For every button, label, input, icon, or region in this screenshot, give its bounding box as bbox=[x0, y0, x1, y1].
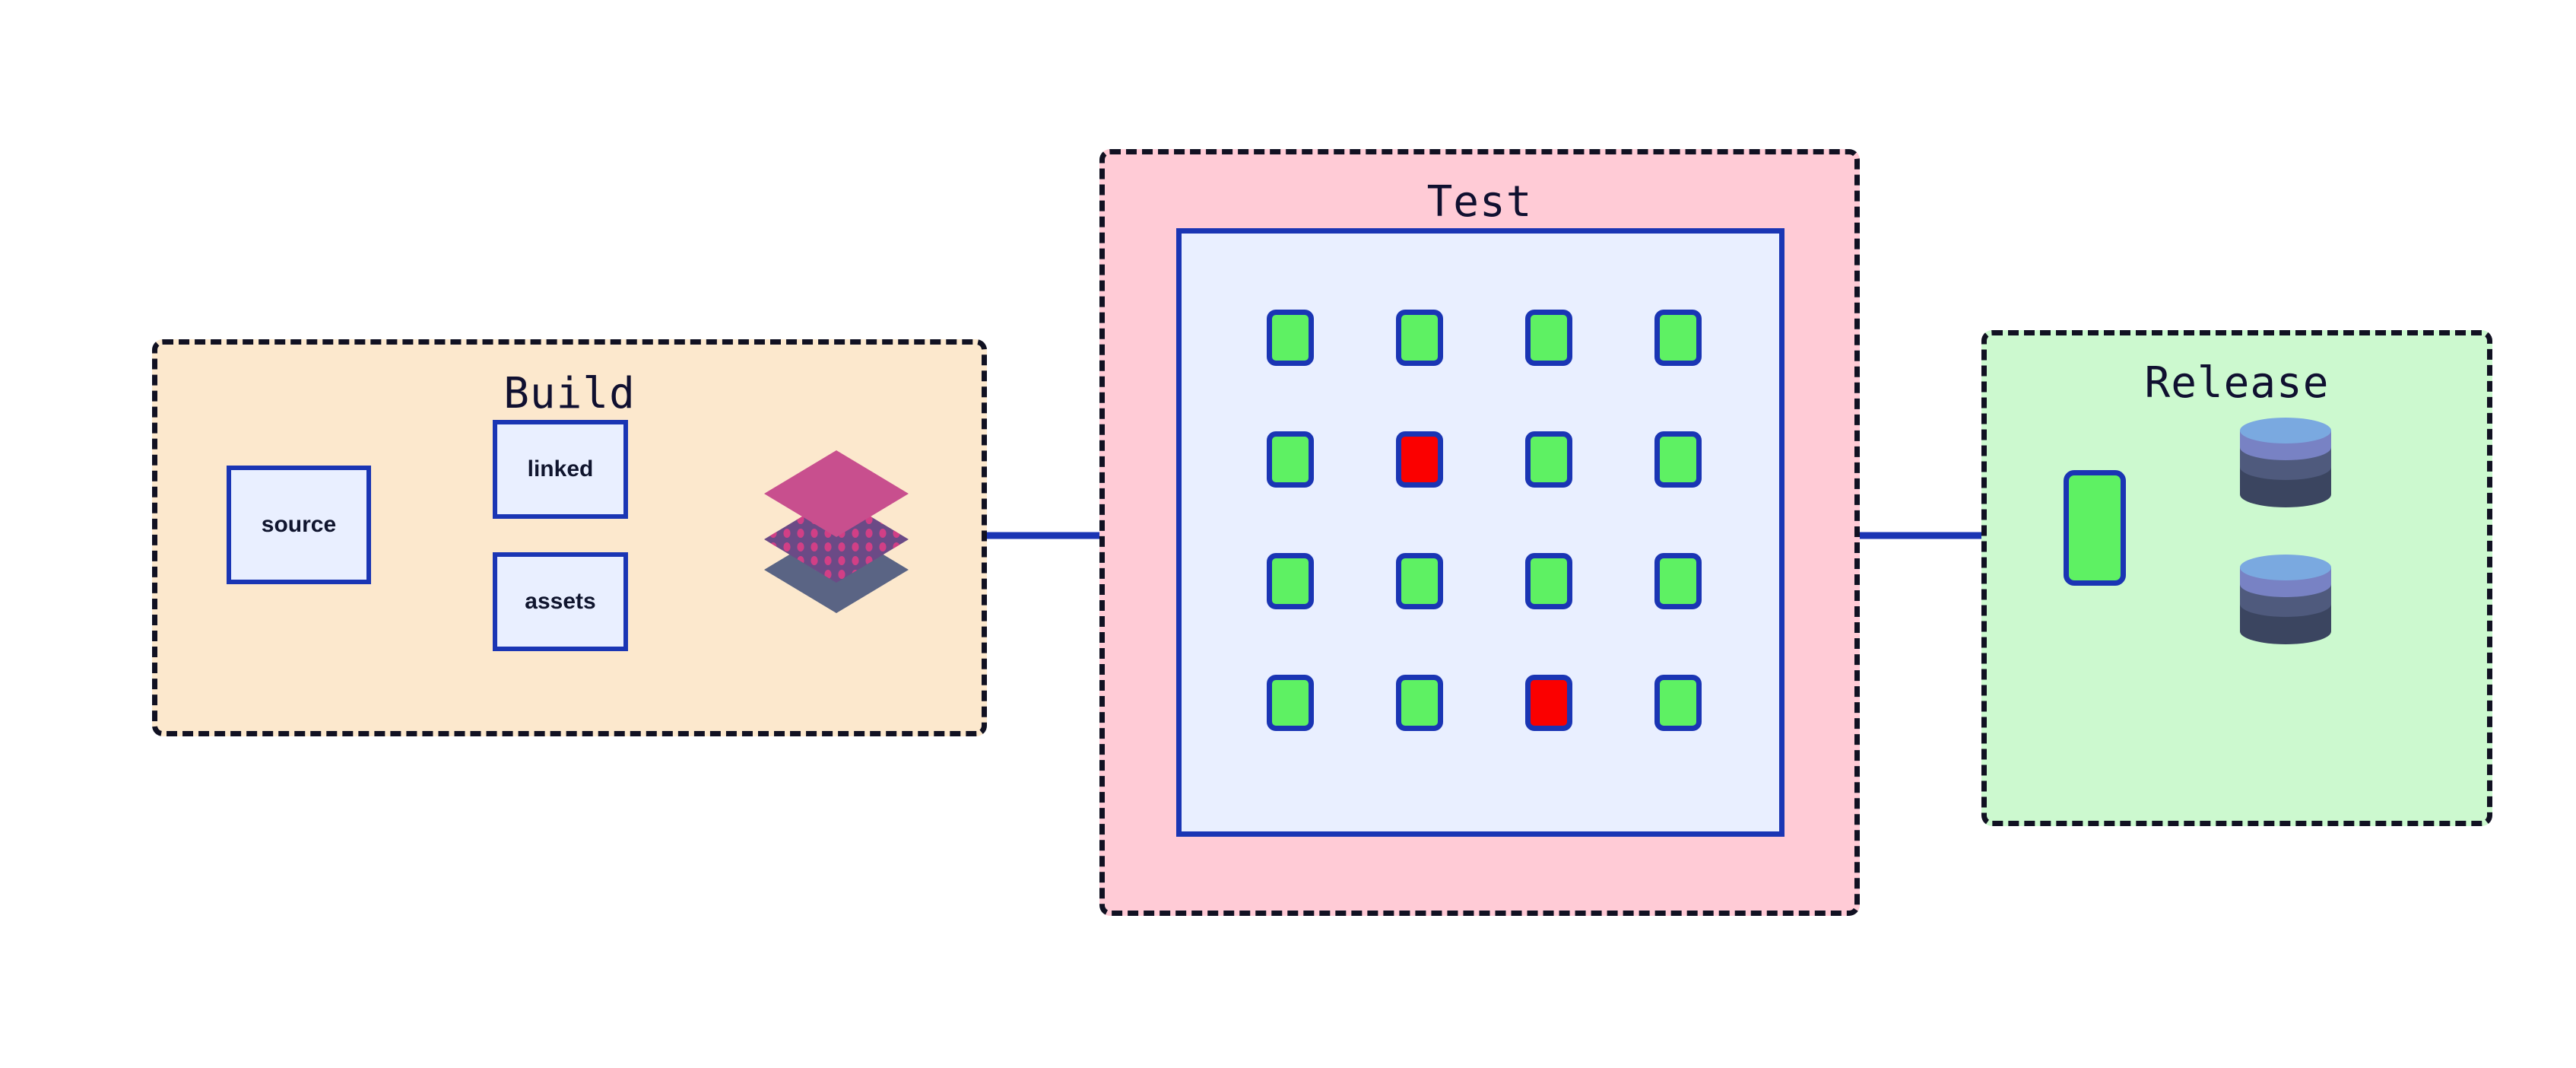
node-source[interactable]: source bbox=[227, 466, 371, 584]
test-cell-wrapper bbox=[1355, 431, 1484, 488]
test-cell-wrapper bbox=[1226, 553, 1355, 609]
test-cell-wrapper bbox=[1226, 675, 1355, 731]
test-cell-pass[interactable] bbox=[1654, 310, 1702, 366]
test-cell-fail[interactable] bbox=[1525, 675, 1572, 731]
test-cell-pass[interactable] bbox=[1267, 431, 1314, 488]
test-cell-pass[interactable] bbox=[1267, 553, 1314, 609]
node-assets[interactable]: assets bbox=[493, 552, 628, 651]
database-icon bbox=[2237, 417, 2334, 508]
test-cell-wrapper bbox=[1355, 310, 1484, 366]
layers-icon bbox=[753, 444, 920, 619]
node-source-label: source bbox=[262, 512, 336, 538]
node-linked[interactable]: linked bbox=[493, 420, 628, 519]
test-cell-wrapper bbox=[1484, 431, 1613, 488]
test-cell-pass[interactable] bbox=[1525, 553, 1572, 609]
test-cell-pass[interactable] bbox=[1525, 310, 1572, 366]
node-assets-label: assets bbox=[525, 589, 595, 615]
database-icon bbox=[2237, 554, 2334, 645]
cluster-build-title: Build bbox=[157, 369, 982, 418]
test-cell-wrapper bbox=[1484, 310, 1613, 366]
test-cell-fail[interactable] bbox=[1396, 431, 1443, 488]
test-cell-pass[interactable] bbox=[1396, 553, 1443, 609]
test-cell-wrapper bbox=[1355, 675, 1484, 731]
test-cell-wrapper bbox=[1613, 310, 1743, 366]
test-cell-wrapper bbox=[1613, 431, 1743, 488]
test-cell-pass[interactable] bbox=[1267, 675, 1314, 731]
cluster-release-title: Release bbox=[1987, 358, 2487, 408]
test-cell-wrapper bbox=[1226, 310, 1355, 366]
cluster-test-title: Test bbox=[1105, 177, 1854, 227]
node-deploy[interactable] bbox=[2064, 470, 2126, 586]
test-cell-pass[interactable] bbox=[1654, 431, 1702, 488]
node-linked-label: linked bbox=[528, 456, 594, 482]
test-cell-pass[interactable] bbox=[1396, 675, 1443, 731]
test-cell-pass[interactable] bbox=[1654, 675, 1702, 731]
layer-top bbox=[764, 450, 909, 537]
test-cell-pass[interactable] bbox=[1396, 310, 1443, 366]
test-cell-pass[interactable] bbox=[1525, 431, 1572, 488]
test-cell-pass[interactable] bbox=[1267, 310, 1314, 366]
test-cell-wrapper bbox=[1355, 553, 1484, 609]
test-cell-wrapper bbox=[1484, 675, 1613, 731]
test-cell-wrapper bbox=[1484, 553, 1613, 609]
test-results-grid bbox=[1226, 310, 1743, 731]
diagram-canvas: Build source linked assets bbox=[0, 0, 2576, 1068]
test-cell-wrapper bbox=[1613, 553, 1743, 609]
test-cell-wrapper bbox=[1613, 675, 1743, 731]
test-cell-wrapper bbox=[1226, 431, 1355, 488]
test-results-panel bbox=[1176, 228, 1784, 837]
test-cell-pass[interactable] bbox=[1654, 553, 1702, 609]
